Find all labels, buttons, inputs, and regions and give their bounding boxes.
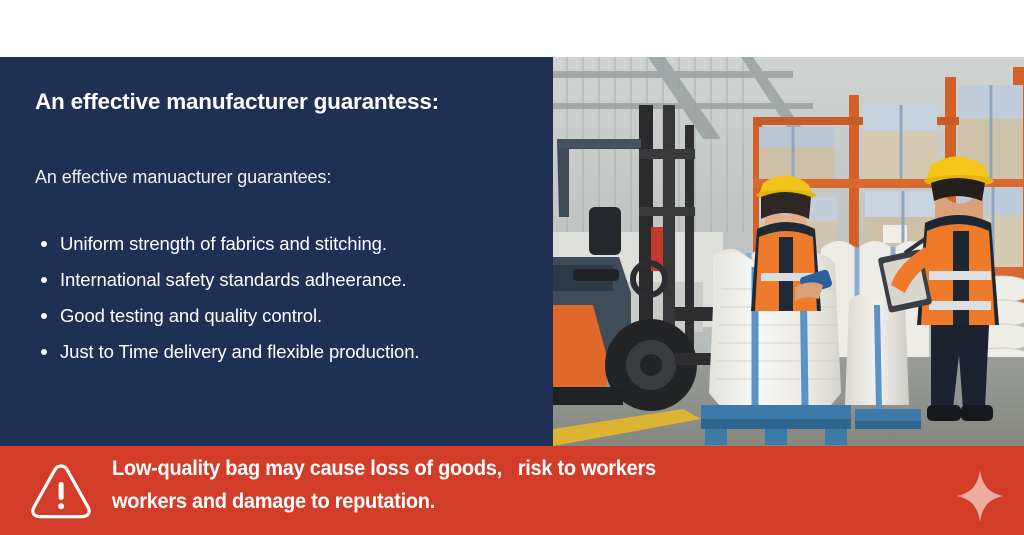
guarantee-bullet-list: Uniform strength of fabrics and stitchin… <box>35 226 513 370</box>
panel-subheading: An effective manuacturer guarantees: <box>35 167 513 189</box>
list-item-label: Just to Time delivery and flexible produ… <box>60 341 419 362</box>
list-item: Just to Time delivery and flexible produ… <box>35 334 455 370</box>
warning-message: Low-quality bag may cause loss of goods,… <box>112 452 912 518</box>
bullet-dot-icon <box>41 241 47 247</box>
list-item: International safety standards adheeranc… <box>35 262 455 298</box>
warning-triangle-icon <box>28 461 94 521</box>
page-title: An effective manufacturer guarantess: <box>35 88 513 115</box>
list-item: Uniform strength of fabrics and stitchin… <box>35 226 455 262</box>
top-white-strip <box>0 0 1024 57</box>
bullet-dot-icon <box>41 277 47 283</box>
sparkle-icon <box>955 468 1005 524</box>
warning-line-2: workers and damage to reputation. <box>112 485 856 518</box>
content-panel: An effective manufacturer guarantess: An… <box>0 57 553 446</box>
warning-line-1: Low-quality bag may cause loss of goods,… <box>112 452 856 485</box>
list-item-label: Uniform strength of fabrics and stitchin… <box>60 233 387 254</box>
list-item-label: Good testing and quality control. <box>60 305 322 326</box>
list-item-label: International safety standards adheeranc… <box>60 269 407 290</box>
slide-root: An effective manufacturer guarantess: An… <box>0 0 1024 535</box>
bullet-dot-icon <box>41 349 47 355</box>
warehouse-photo <box>553 57 1024 446</box>
list-item: Good testing and quality control. <box>35 298 455 334</box>
bullet-dot-icon <box>41 313 47 319</box>
